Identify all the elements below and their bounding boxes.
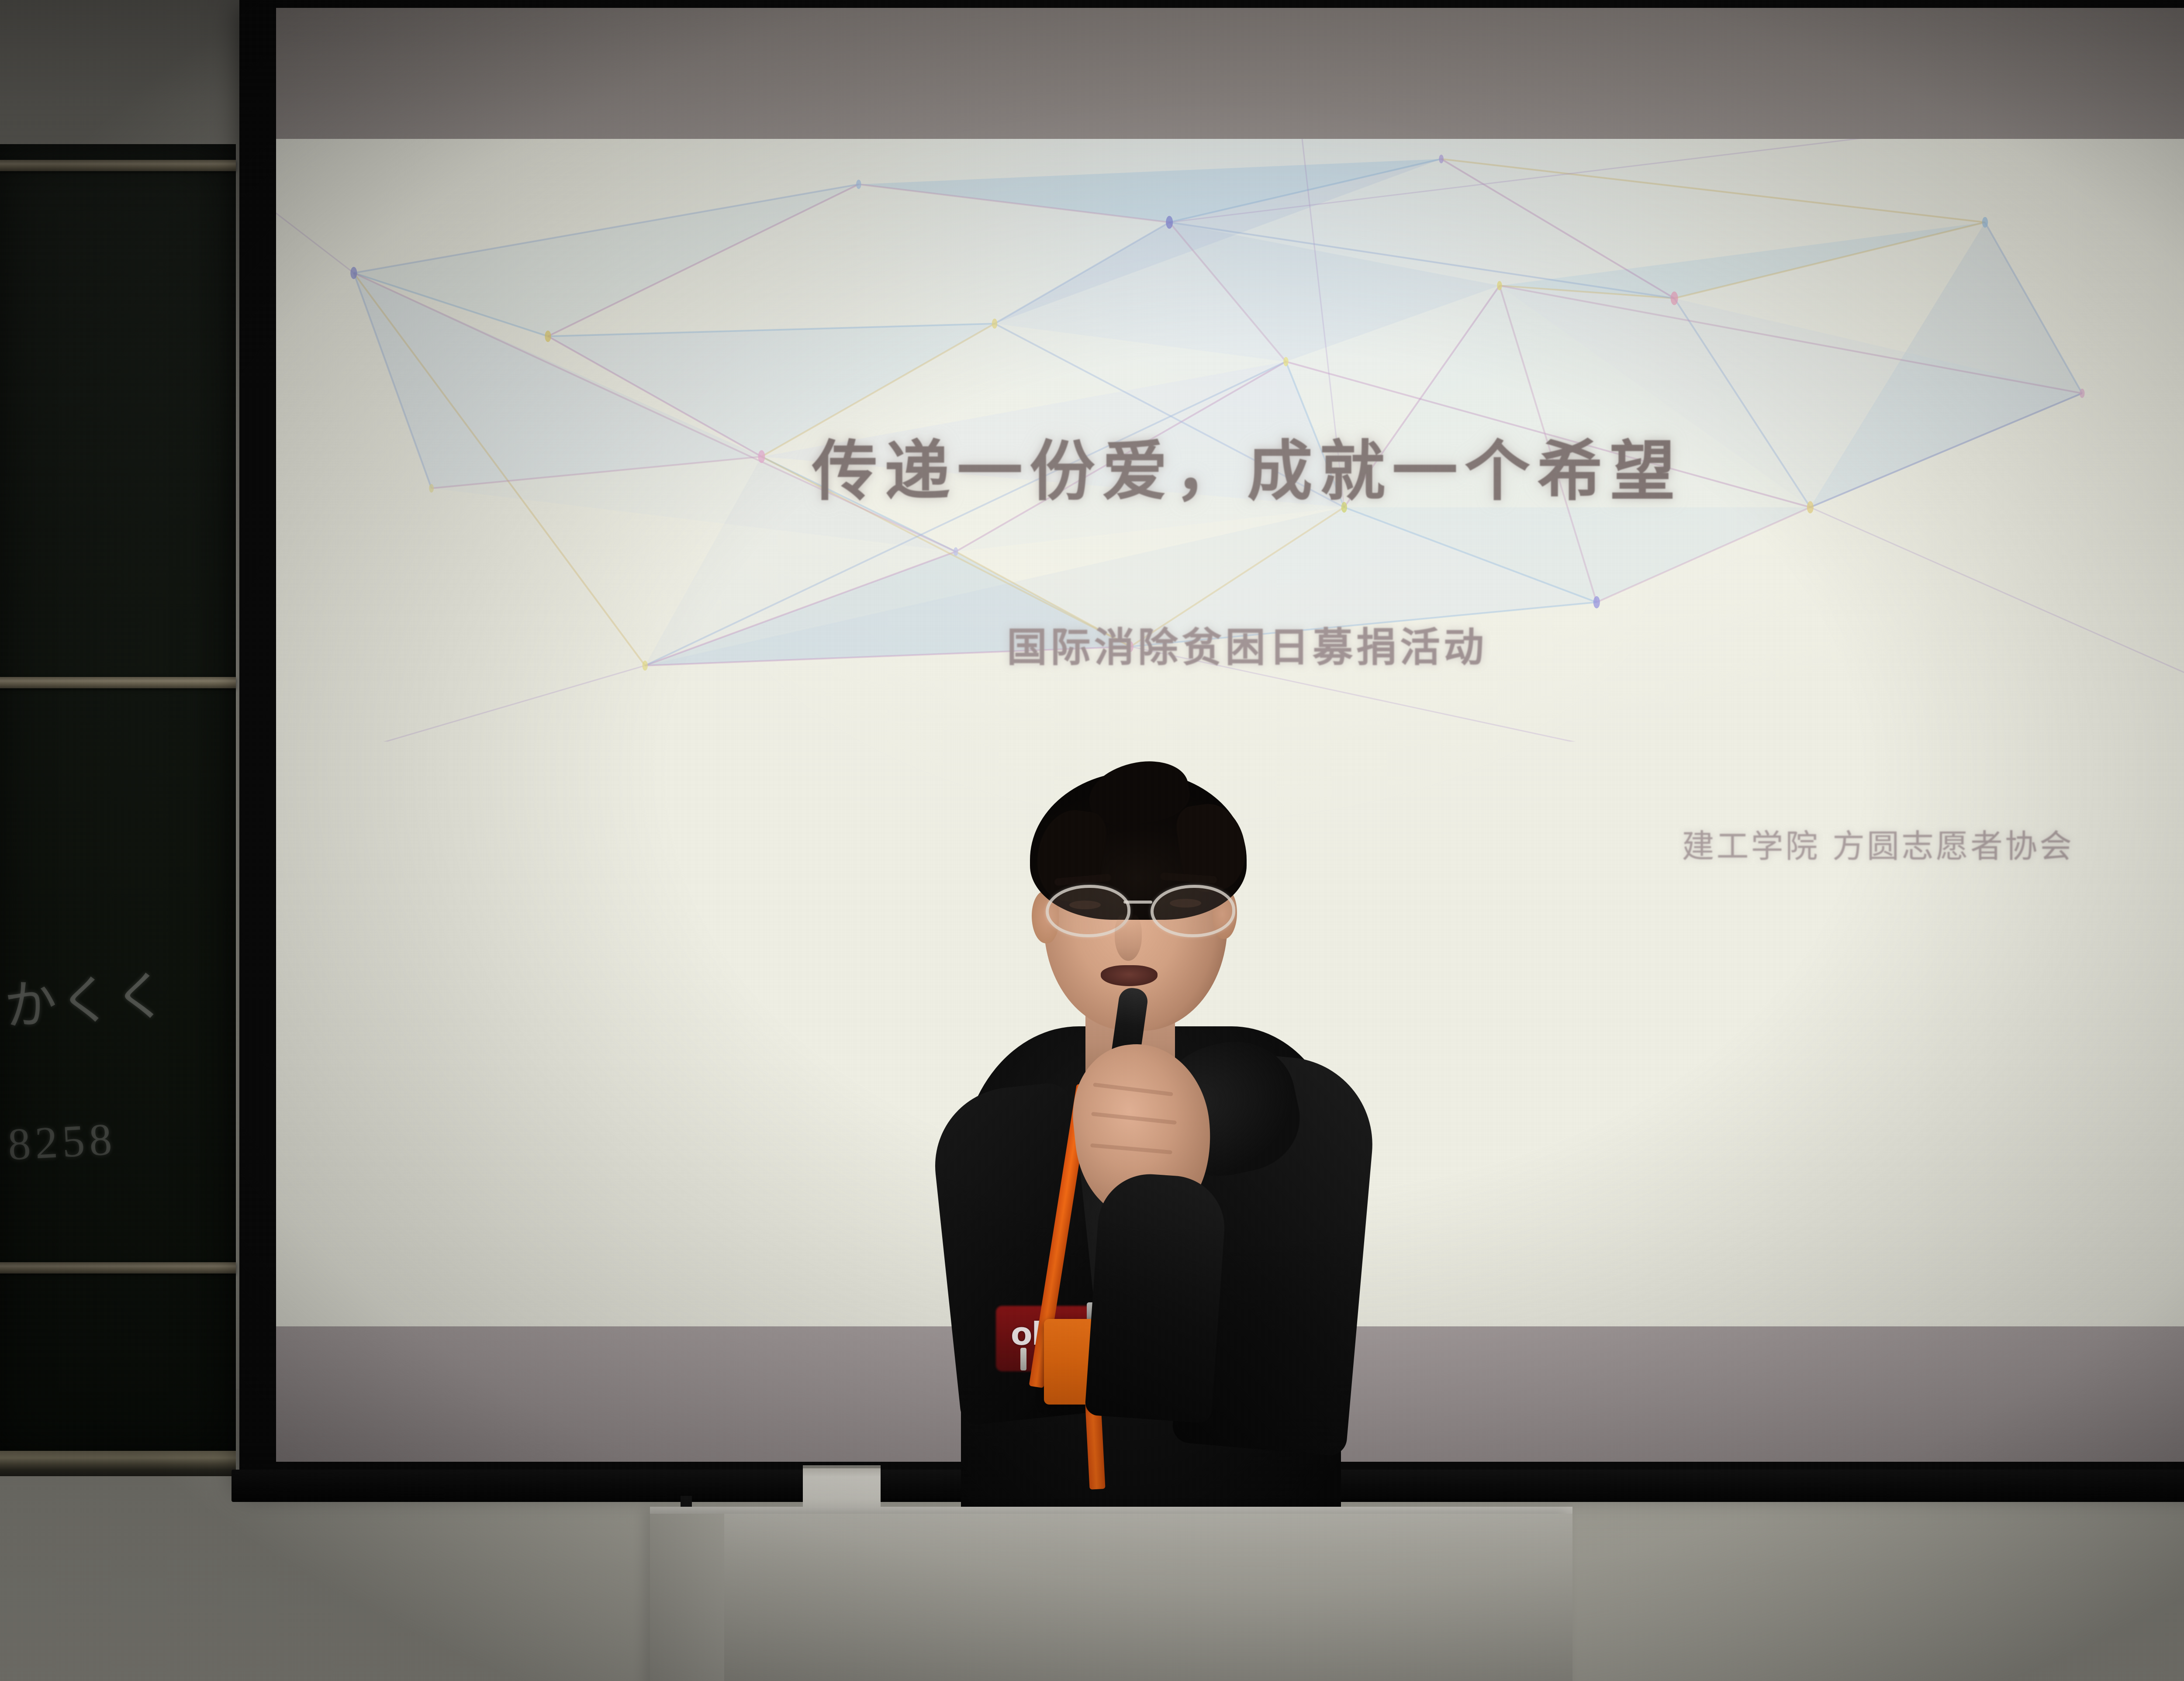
badge-pin (1020, 1348, 1026, 1370)
podium (650, 1514, 1572, 1681)
left-blackboard (0, 144, 236, 1459)
glasses-right-lens (1151, 885, 1235, 937)
blackboard-chalk-ledge (0, 1451, 236, 1476)
speaker-nose (1115, 913, 1142, 961)
photo-scene: かくく 8258 194 9 新民語 传递一份爱，成就一个希望 国际消除贫困日募… (0, 0, 2184, 1681)
podium-side-panel (650, 1514, 724, 1681)
slide-title: 传递一份爱，成就一个希望 (276, 418, 2184, 513)
speaker-forearm (1085, 1171, 1228, 1424)
blackboard-rail-top (0, 160, 236, 171)
glasses-bridge (1123, 901, 1152, 904)
blackboard-rail-lower (0, 1262, 236, 1274)
slide-organization: 建工学院 方圆志愿者协会 (1682, 820, 2074, 867)
speaker-mouth (1101, 965, 1158, 986)
slide-top-band (276, 8, 2184, 139)
slide-subtitle: 国际消除贫困日募捐活动 (276, 615, 2184, 673)
blackboard-rail-middle (0, 677, 236, 688)
